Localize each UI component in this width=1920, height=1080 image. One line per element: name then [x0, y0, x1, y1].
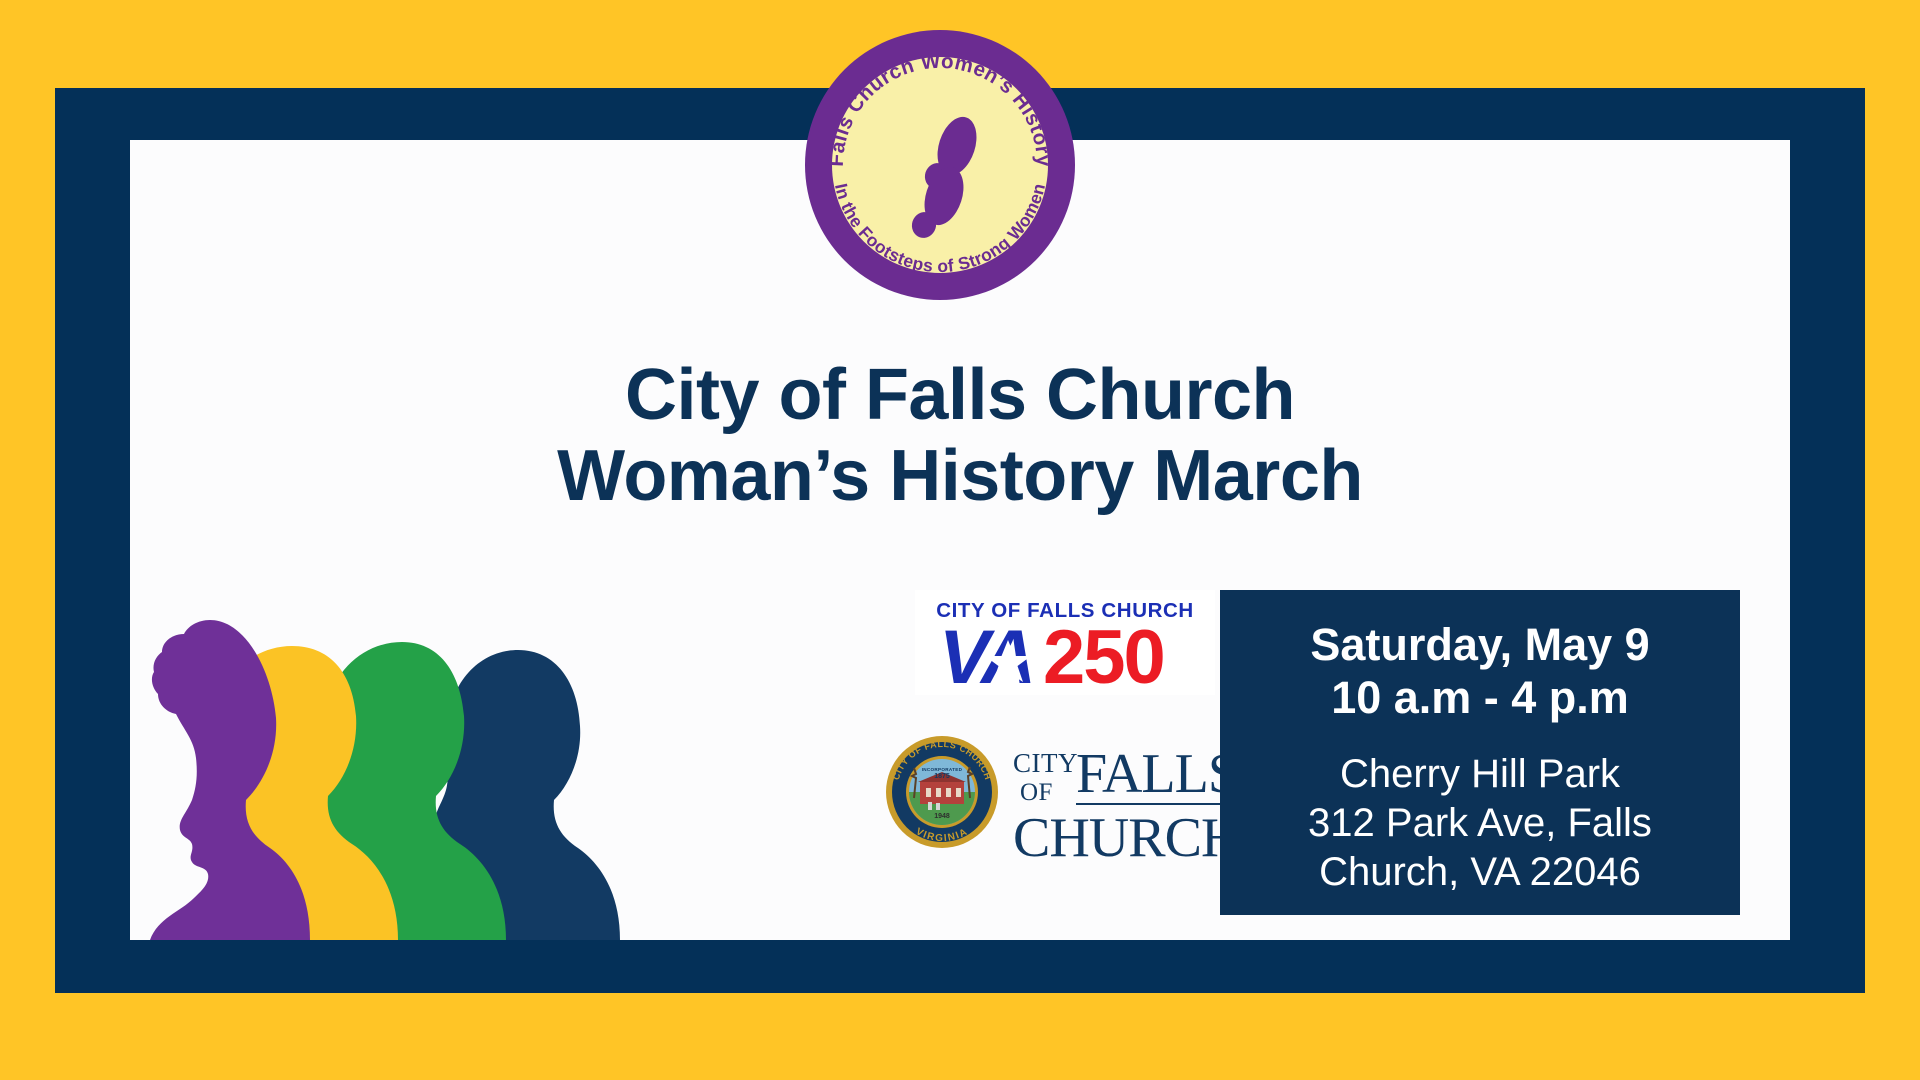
- event-location: Cherry Hill Park 312 Park Ave, Falls Chu…: [1220, 750, 1740, 896]
- address-line-1: 312 Park Ave, Falls: [1220, 799, 1740, 848]
- wordmark-falls: FALLS: [1076, 743, 1238, 805]
- headline-line-2: Woman’s History March: [130, 436, 1790, 517]
- falls-church-womens-history-seal: Falls Church Women’s History In the Foot…: [805, 30, 1075, 300]
- event-details-box: Saturday, May 9 10 a.m - 4 p.m Cherry Hi…: [1220, 590, 1740, 915]
- event-time: 10 a.m - 4 p.m: [1220, 671, 1740, 724]
- va250-logo: CITY OF FALLS CHURCH VA 250: [915, 590, 1215, 695]
- seal-year-top: 1875: [934, 773, 950, 780]
- city-seal-icon: INCORPORATED 1875 1948 CITY OF FALLS CHU…: [886, 736, 998, 848]
- women-silhouettes-artwork: [150, 590, 750, 940]
- city-wordmark: CITY OF FALLS CHURCH: [1013, 743, 1248, 865]
- content-row: CITY OF FALLS CHURCH VA 250: [130, 580, 1790, 940]
- seal-incorporated-text: INCORPORATED: [922, 767, 963, 772]
- address-line-2: Church, VA 22046: [1220, 848, 1740, 897]
- event-date: Saturday, May 9: [1220, 618, 1740, 671]
- venue-name: Cherry Hill Park: [1220, 750, 1740, 799]
- page-title: City of Falls Church Woman’s History Mar…: [130, 355, 1790, 518]
- wordmark-of: OF: [1020, 779, 1053, 806]
- va250-number-text: 250: [1043, 615, 1164, 695]
- headline-line-1: City of Falls Church: [130, 355, 1790, 436]
- poster-canvas: Falls Church Women’s History In the Foot…: [0, 0, 1920, 1080]
- va250-va-text: VA: [939, 615, 1033, 695]
- seal-year-bottom: 1948: [934, 813, 950, 820]
- partner-logos: CITY OF FALLS CHURCH VA 250: [870, 580, 1250, 930]
- wordmark-church: CHURCH: [1013, 807, 1240, 865]
- city-of-falls-church-logo: INCORPORATED 1875 1948 CITY OF FALLS CHU…: [880, 730, 1250, 865]
- wordmark-city: CITY: [1013, 748, 1078, 778]
